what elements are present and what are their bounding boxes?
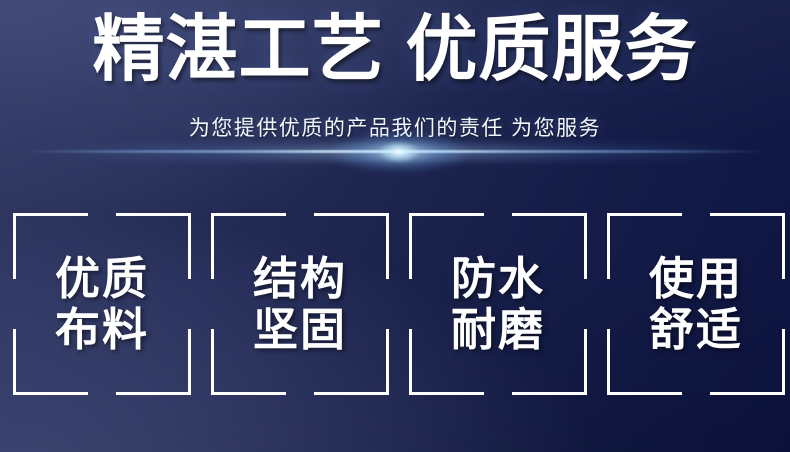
feature-list: 优质 布料 结构 坚固 — [0, 213, 790, 395]
feature-item-4: 使用 舒适 — [607, 213, 785, 395]
feature-label-2-line2: 坚固 — [253, 304, 347, 355]
feature-label-2: 结构 坚固 — [211, 213, 389, 395]
feature-label-1: 优质 布料 — [13, 213, 191, 395]
feature-label-1-line1: 优质 — [55, 253, 149, 304]
feature-label-4-line1: 使用 — [649, 253, 743, 304]
lens-flare-core — [378, 141, 420, 163]
feature-label-4-line2: 舒适 — [649, 304, 743, 355]
promo-banner: 精湛工艺 优质服务 为您提供优质的产品我们的责任 为您服务 优质 布料 — [0, 0, 790, 452]
feature-label-2-line1: 结构 — [253, 253, 347, 304]
feature-item-1: 优质 布料 — [13, 213, 191, 395]
feature-label-3-line1: 防水 — [451, 253, 545, 304]
banner-title: 精湛工艺 优质服务 — [0, 14, 790, 86]
feature-label-3-line2: 耐磨 — [451, 304, 545, 355]
feature-label-4: 使用 舒适 — [607, 213, 785, 395]
feature-item-3: 防水 耐磨 — [409, 213, 587, 395]
feature-label-3: 防水 耐磨 — [409, 213, 587, 395]
feature-item-2: 结构 坚固 — [211, 213, 389, 395]
feature-label-1-line2: 布料 — [55, 304, 149, 355]
